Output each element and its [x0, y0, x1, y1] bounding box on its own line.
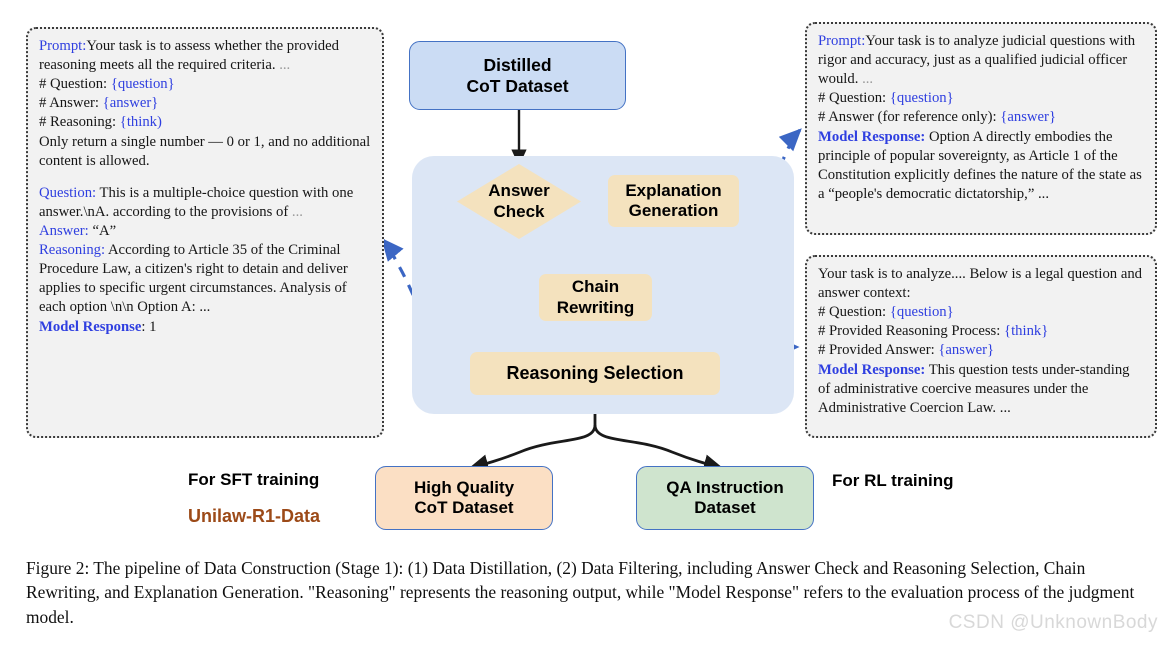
rb-field-question-label: # Question:: [818, 304, 890, 320]
node-hq-line1: High Quality: [414, 478, 514, 497]
node-chain-line2: Rewriting: [557, 298, 634, 317]
rb-field-question-value: {question}: [890, 304, 954, 320]
left-field-reasoning-label: # Reasoning:: [39, 114, 120, 130]
rt-field-answer: # Answer (for reference only): {answer}: [818, 108, 1144, 127]
node-answer-check[interactable]: Answer Check: [457, 164, 581, 239]
rt-field-question-value: {question}: [890, 90, 954, 106]
rb-field-answer-value: {answer}: [938, 342, 994, 358]
node-answer-check-line2: Check: [493, 202, 544, 221]
left-prompt-line: Prompt:Your task is to assess whether th…: [39, 37, 371, 75]
left-field-answer-value: {answer}: [103, 95, 159, 111]
node-answer-check-line1: Answer: [488, 181, 549, 200]
left-prompt-label: Prompt:: [39, 38, 86, 54]
rt-field-answer-label: # Answer (for reference only):: [818, 109, 1000, 125]
node-chain-line1: Chain: [572, 277, 619, 296]
rt-field-answer-value: {answer}: [1000, 109, 1056, 125]
node-distilled-line1: Distilled: [483, 55, 551, 75]
rt-prompt-line: Prompt:Your task is to analyze judicial …: [818, 32, 1144, 89]
panel-spacer: [39, 171, 371, 184]
reasoning-selection-prompt-panel[interactable]: Your task is to analyze.... Below is a l…: [805, 255, 1157, 438]
rt-model-response-label: Model Response:: [818, 129, 925, 145]
left-field-reasoning: # Reasoning: {think): [39, 113, 371, 132]
watermark-text: CSDN @UnknownBody: [949, 612, 1158, 634]
left-question-block: Question: This is a multiple-choice ques…: [39, 184, 371, 222]
left-model-response-label: Model Response: [39, 319, 141, 335]
rb-intro: Your task is to analyze.... Below is a l…: [818, 265, 1144, 303]
left-model-response: Model Response: 1: [39, 318, 371, 337]
left-answer-block: Answer: “A”: [39, 222, 371, 241]
rb-model-response-label: Model Response:: [818, 362, 925, 378]
label-unilaw-r1-data: Unilaw-R1-Data: [188, 506, 320, 527]
left-answer-label: Answer:: [39, 223, 89, 239]
left-question-ellipsis: ...: [292, 204, 303, 220]
rb-field-answer: # Provided Answer: {answer}: [818, 341, 1144, 360]
rb-field-reasoning-value: {think}: [1004, 323, 1048, 339]
node-explanation-generation[interactable]: Explanation Generation: [608, 175, 739, 227]
rt-model-response: Model Response: Option A directly embodi…: [818, 128, 1144, 204]
rt-prompt-label: Prompt:: [818, 33, 865, 49]
answer-check-prompt-panel[interactable]: Prompt:Your task is to assess whether th…: [26, 27, 384, 438]
rb-field-reasoning-label: # Provided Reasoning Process:: [818, 323, 1004, 339]
rb-field-answer-label: # Provided Answer:: [818, 342, 938, 358]
node-reasoning-selection[interactable]: Reasoning Selection: [470, 352, 720, 395]
node-distilled-line2: CoT Dataset: [466, 76, 568, 96]
rb-field-question: # Question: {question}: [818, 303, 1144, 322]
node-qa-line1: QA Instruction: [666, 478, 783, 497]
rt-field-question-label: # Question:: [818, 90, 890, 106]
left-field-reasoning-value: {think): [120, 114, 162, 130]
left-field-answer-label: # Answer:: [39, 95, 103, 111]
left-field-question: # Question: {question}: [39, 75, 371, 94]
rt-field-question: # Question: {question}: [818, 89, 1144, 108]
node-qa-line2: Dataset: [694, 498, 755, 517]
rb-model-response: Model Response: This question tests unde…: [818, 361, 1144, 418]
node-qa-instruction-dataset[interactable]: QA Instruction Dataset: [636, 466, 814, 530]
left-prompt-ellipsis: ...: [279, 57, 290, 73]
left-field-question-value: {question}: [111, 76, 175, 92]
node-hq-line2: CoT Dataset: [414, 498, 513, 517]
left-field-question-label: # Question:: [39, 76, 111, 92]
label-for-sft-training: For SFT training: [188, 470, 319, 490]
node-high-quality-cot-dataset[interactable]: High Quality CoT Dataset: [375, 466, 553, 530]
left-constraint: Only return a single number — 0 or 1, an…: [39, 133, 371, 171]
left-question-label: Question:: [39, 185, 96, 201]
node-explanation-line1: Explanation: [625, 181, 721, 200]
node-chain-rewriting[interactable]: Chain Rewriting: [539, 274, 652, 321]
left-field-answer: # Answer: {answer}: [39, 94, 371, 113]
label-for-rl-training: For RL training: [832, 471, 954, 491]
rt-prompt-ellipsis: ...: [862, 71, 873, 87]
node-reasoning-selection-label: Reasoning Selection: [506, 363, 683, 384]
node-distilled-cot-dataset[interactable]: Distilled CoT Dataset: [409, 41, 626, 110]
left-reasoning-block: Reasoning: According to Article 35 of th…: [39, 241, 371, 317]
explanation-generation-prompt-panel[interactable]: Prompt:Your task is to analyze judicial …: [805, 22, 1157, 235]
left-reasoning-label: Reasoning:: [39, 242, 105, 258]
left-model-response-value: : 1: [141, 319, 156, 335]
figure-stage: Distilled CoT Dataset Answer Check Expla…: [0, 0, 1176, 650]
rb-field-reasoning: # Provided Reasoning Process: {think}: [818, 322, 1144, 341]
node-explanation-line2: Generation: [629, 201, 719, 220]
left-answer-text: “A”: [89, 223, 116, 239]
